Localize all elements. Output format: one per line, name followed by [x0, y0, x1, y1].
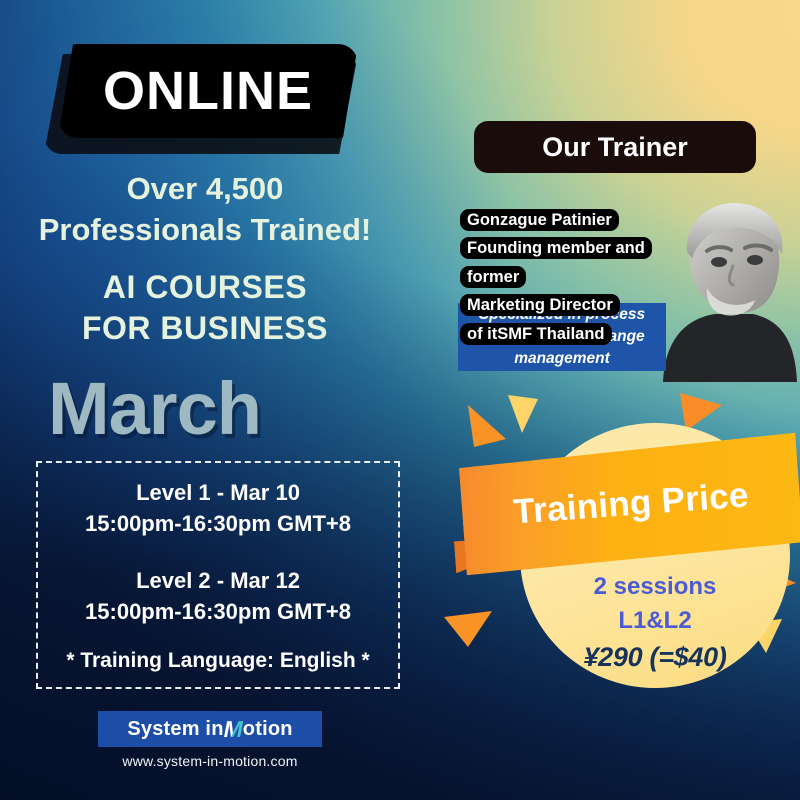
level-2-title: Level 2 - Mar 12 [85, 565, 351, 596]
online-badge-label: ONLINE [103, 64, 313, 118]
price-levels: L1&L2 [520, 604, 790, 638]
brand-logo: System in M otion [98, 711, 322, 747]
schedule-level-1: Level 1 - Mar 10 15:00pm-16:30pm GMT+8 [85, 477, 351, 539]
brand-name-prefix: System in [127, 718, 223, 741]
price-details: 2 sessions L1&L2 ¥290 (=$40) [520, 570, 790, 676]
schedule-box: Level 1 - Mar 10 15:00pm-16:30pm GMT+8 L… [36, 461, 400, 689]
language-note: * Training Language: English * [66, 649, 369, 673]
trainer-section-title: Our Trainer [474, 121, 756, 173]
brand-name-suffix: otion [243, 718, 293, 741]
bio-line-4: of itSMF Thailand [460, 323, 612, 345]
price-amount: ¥290 (=$40) [520, 638, 790, 676]
level-1-time: 15:00pm-16:30pm GMT+8 [85, 508, 351, 539]
headline-stats: Over 4,500 Professionals Trained! [0, 168, 410, 250]
bio-line-1: Gonzague Patinier [460, 209, 619, 231]
headline-line-1: Over 4,500 [0, 168, 410, 209]
level-2-time: 15:00pm-16:30pm GMT+8 [85, 596, 351, 627]
headline-course: AI COURSES FOR BUSINESS [0, 267, 410, 349]
online-badge-plate: ONLINE [58, 44, 358, 138]
course-line-2: FOR BUSINESS [0, 308, 410, 349]
month-heading: March [48, 372, 261, 446]
level-1-title: Level 1 - Mar 10 [85, 477, 351, 508]
schedule-level-2: Level 2 - Mar 12 15:00pm-16:30pm GMT+8 [85, 565, 351, 627]
bio-line-2: Founding member and former [460, 237, 652, 287]
headline-line-2: Professionals Trained! [0, 209, 410, 250]
bio-line-3: Marketing Director [460, 294, 620, 316]
trainer-bio: Gonzague Patinier Founding member and fo… [460, 206, 705, 348]
price-ribbon-label: Training Price [512, 475, 750, 532]
promo-poster: ONLINE Over 4,500 Professionals Trained!… [0, 0, 800, 800]
brand-url: www.system-in-motion.com [98, 753, 322, 769]
price-sessions: 2 sessions [520, 570, 790, 604]
course-line-1: AI COURSES [0, 267, 410, 308]
price-burst: Training Price 2 sessions L1&L2 ¥290 (=$… [430, 385, 800, 690]
trainer-section-title-label: Our Trainer [542, 132, 688, 163]
brand-m-mark-icon: M [221, 716, 245, 743]
online-badge: ONLINE [52, 44, 362, 150]
